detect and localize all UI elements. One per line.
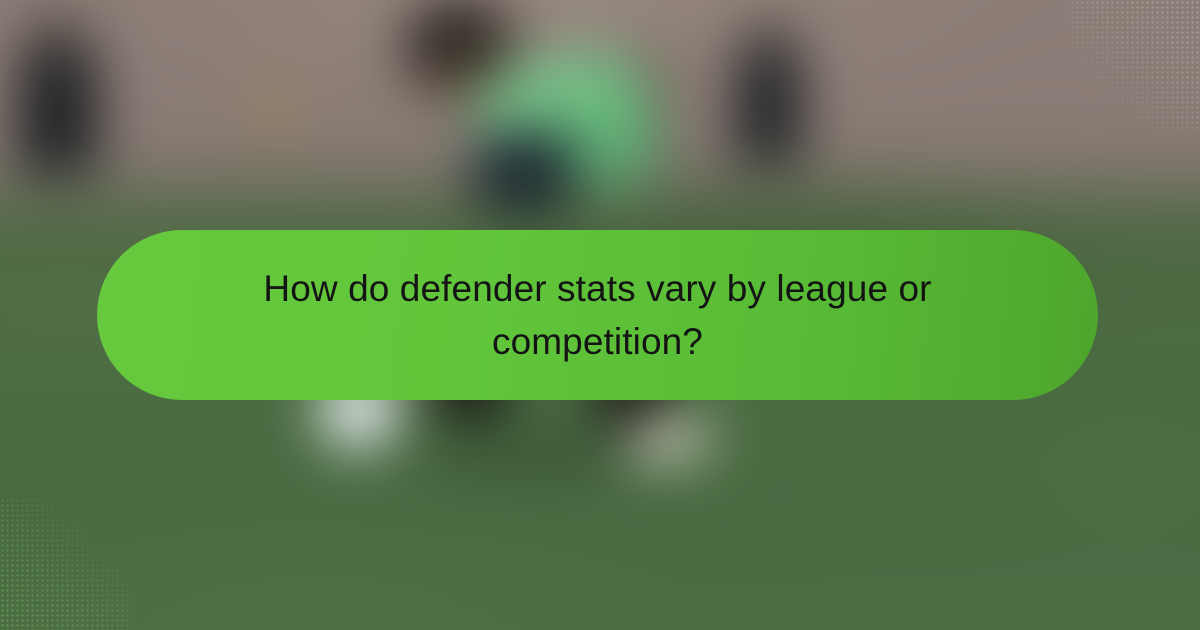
question-text: How do defender stats vary by league or … [263,262,931,369]
social-card: How do defender stats vary by league or … [0,0,1200,630]
background-person-right [736,43,802,162]
background-person-left [19,45,97,172]
player-shorts [473,130,575,211]
question-pill: How do defender stats vary by league or … [97,230,1098,400]
field-marker-icon [267,77,280,155]
background-person-left-head [38,15,74,55]
background-person-right-head [752,15,784,51]
ground-shadow [356,433,706,482]
